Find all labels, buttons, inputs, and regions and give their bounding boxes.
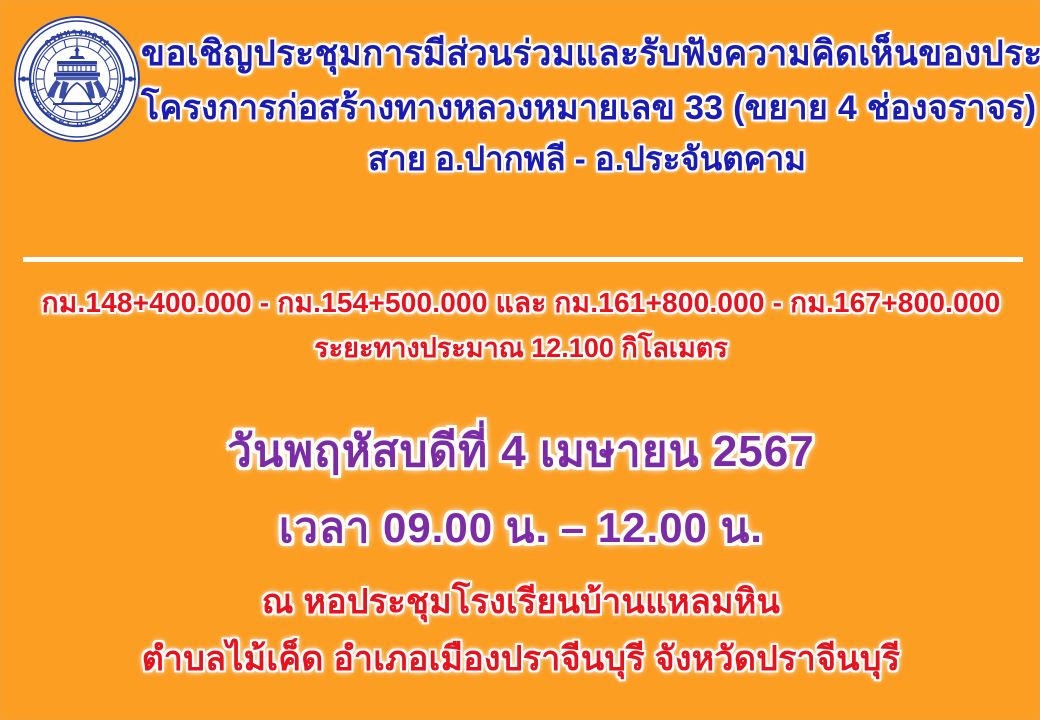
event-schedule: วันพฤหัสบดีที่ 4 เมษายน 2567 เวลา 09.00 … <box>1 426 1040 553</box>
venue-address-text: ตำบลไม้เค็ด อำเภอเมืองปราจีนบุรี จังหวัด… <box>1 638 1040 681</box>
project-route: สาย อ.ปากพลี - อ.ประจันตคาม <box>141 139 1033 179</box>
announcement-poster: กรมทางหลวง DEPARTMENT OF HIGHWAYS ขอเชิญ… <box>0 0 1040 720</box>
project-title: โครงการก่อสร้างทางหลวงหมายเลข 33 (ขยาย 4… <box>141 88 1033 129</box>
venue-section: ณ หอประชุมโรงเรียนบ้านแหลมหิน ตำบลไม้เค็… <box>1 581 1040 680</box>
department-of-highways-seal-icon: กรมทางหลวง DEPARTMENT OF HIGHWAYS <box>13 15 141 143</box>
invitation-headline: ขอเชิญประชุมการมีส่วนร่วมและรับฟังความคิ… <box>141 33 1033 76</box>
event-date-text: วันพฤหัสบดีที่ 4 เมษายน 2567 <box>1 426 1040 479</box>
station-section: กม.148+400.000 - กม.154+500.000 และ กม.1… <box>1 285 1040 366</box>
venue-name-text: ณ หอประชุมโรงเรียนบ้านแหลมหิน <box>1 581 1040 624</box>
poster-header: ขอเชิญประชุมการมีส่วนร่วมและรับฟังความคิ… <box>141 33 1033 179</box>
horizontal-divider <box>23 257 1023 262</box>
event-time-text: เวลา 09.00 น. – 12.00 น. <box>1 503 1040 553</box>
distance-text: ระยะทางประมาณ 12.100 กิโลเมตร <box>1 332 1040 366</box>
km-range-text: กม.148+400.000 - กม.154+500.000 และ กม.1… <box>1 285 1040 320</box>
